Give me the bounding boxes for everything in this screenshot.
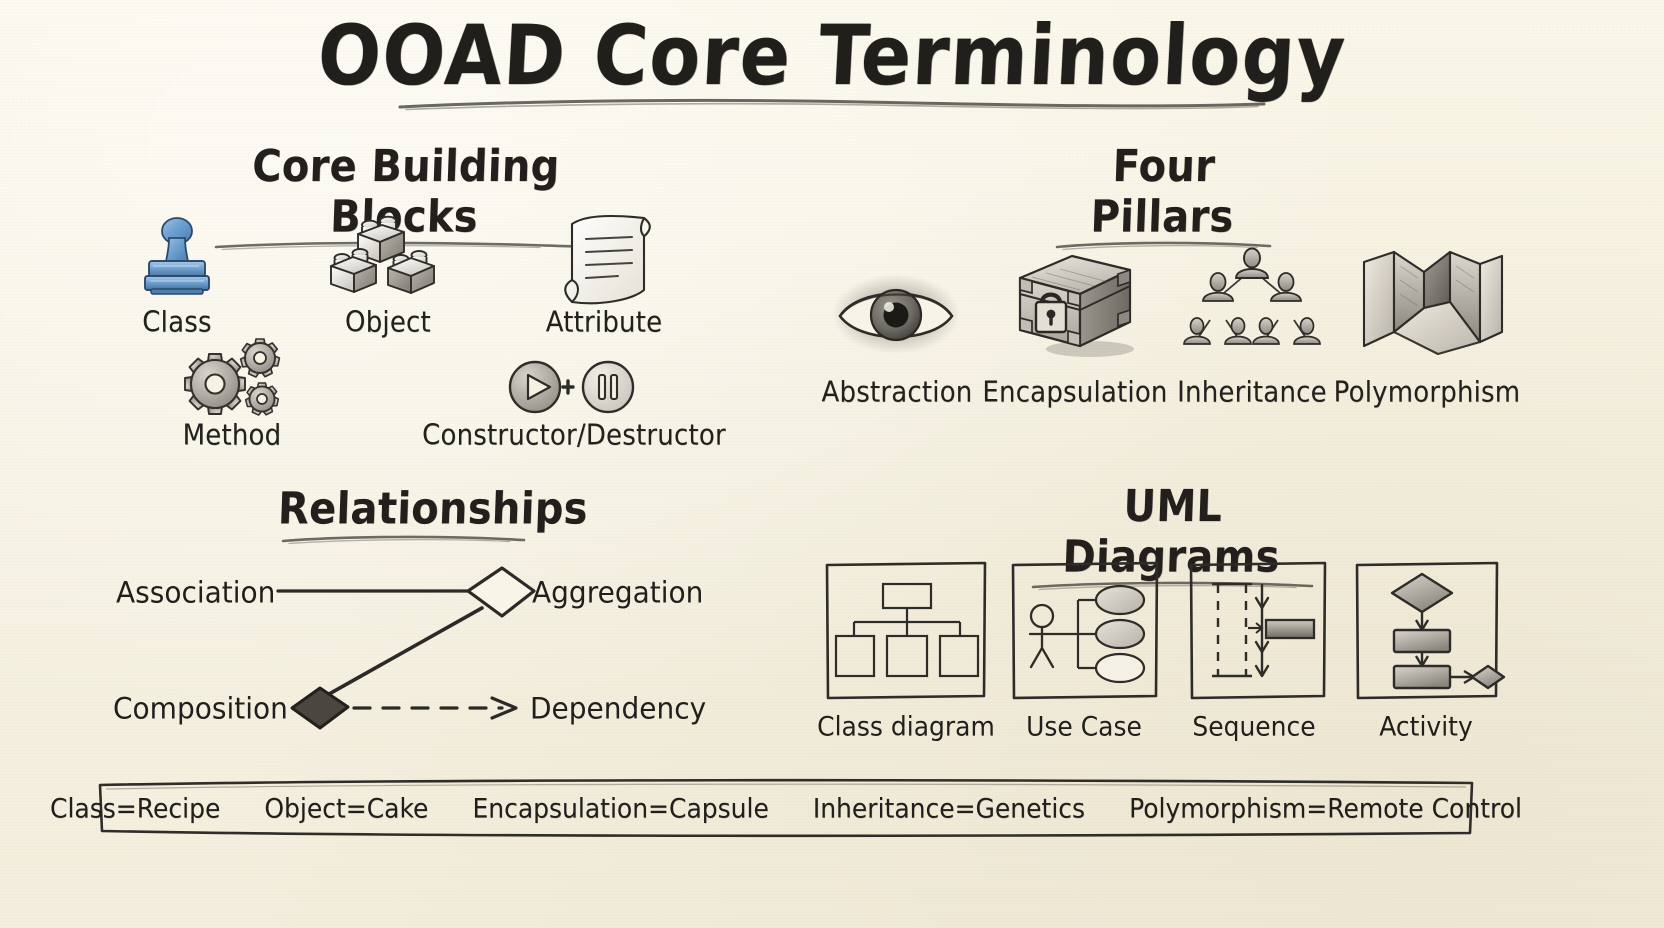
icon-attribute — [548, 206, 666, 314]
label-constructor-destructor: Constructor/Destructor — [422, 420, 726, 452]
uml-thumb-sequence — [1188, 560, 1328, 704]
relationships-title: Relationships — [277, 484, 589, 535]
icon-abstraction — [830, 272, 962, 360]
icon-class — [126, 216, 228, 310]
class-diagram-thumbnail — [824, 560, 988, 700]
composition-line — [322, 608, 482, 698]
label-attribute: Attribute — [546, 307, 663, 339]
mnemonic-class: Class=Recipe — [50, 792, 220, 823]
label-method: Method — [183, 420, 282, 452]
icon-polymorphism — [1358, 246, 1508, 362]
label-dependency: Dependency — [530, 691, 706, 726]
eye-icon — [830, 272, 962, 356]
mnemonic-object: Object=Cake — [264, 792, 428, 823]
label-abstraction: Abstraction — [822, 377, 973, 409]
label-aggregation: Aggregation — [532, 575, 703, 610]
rubber-stamp-icon — [126, 216, 228, 306]
mnemonic-inheritance: Inheritance=Genetics — [813, 792, 1085, 823]
page-title: OOAD Core Terminology — [316, 13, 1349, 100]
play-pause-icon — [506, 356, 638, 418]
label-polymorphism: Polymorphism — [1334, 377, 1521, 409]
filled-diamond — [292, 688, 348, 728]
label-sequence: Sequence — [1192, 711, 1315, 742]
dependency-arrowhead — [492, 698, 516, 718]
use-case-thumbnail — [1010, 560, 1160, 700]
mnemonics-list: Class=Recipe Object=Cake Encapsulation=C… — [96, 777, 1476, 839]
label-class-diagram: Class diagram — [817, 711, 995, 742]
sequence-diagram-thumbnail — [1188, 560, 1328, 700]
icon-object — [326, 212, 452, 314]
folded-shapes-icon — [1358, 246, 1508, 358]
mnemonic-polymorphism: Polymorphism=Remote Control — [1129, 792, 1522, 823]
locked-chest-icon — [1012, 248, 1144, 360]
label-use-case: Use Case — [1026, 711, 1142, 742]
label-association: Association — [116, 575, 275, 610]
label-composition: Composition — [113, 691, 288, 726]
icon-encapsulation — [1012, 248, 1144, 364]
scroll-document-icon — [548, 206, 666, 310]
icon-method — [182, 332, 286, 428]
title-block: OOAD Core Terminology — [0, 18, 1664, 114]
label-object: Object — [345, 307, 431, 339]
label-inheritance: Inheritance — [1177, 377, 1327, 409]
poster-canvas: OOAD Core Terminology Core Building Bloc… — [0, 0, 1664, 928]
activity-diagram-thumbnail — [1354, 560, 1504, 700]
mnemonics-banner: Class=Recipe Object=Cake Encapsulation=C… — [96, 777, 1476, 839]
icon-constructor-destructor — [506, 356, 638, 422]
section-heading-relationships: Relationships — [278, 486, 528, 551]
hierarchy-people-icon — [1182, 246, 1322, 360]
mnemonic-encapsulation: Encapsulation=Capsule — [472, 792, 768, 823]
four-pillars-title: Four Pillars — [1050, 141, 1276, 242]
uml-thumb-class-diagram — [824, 560, 988, 704]
label-activity: Activity — [1379, 711, 1473, 742]
uml-thumb-activity — [1354, 560, 1504, 704]
relationships-underline — [278, 533, 528, 547]
lego-bricks-icon — [326, 212, 452, 310]
gears-icon — [182, 332, 286, 424]
uml-thumb-use-case — [1010, 560, 1160, 704]
label-encapsulation: Encapsulation — [982, 377, 1167, 409]
icon-inheritance — [1182, 246, 1322, 364]
section-heading-four-pillars: Four Pillars — [1052, 146, 1274, 257]
